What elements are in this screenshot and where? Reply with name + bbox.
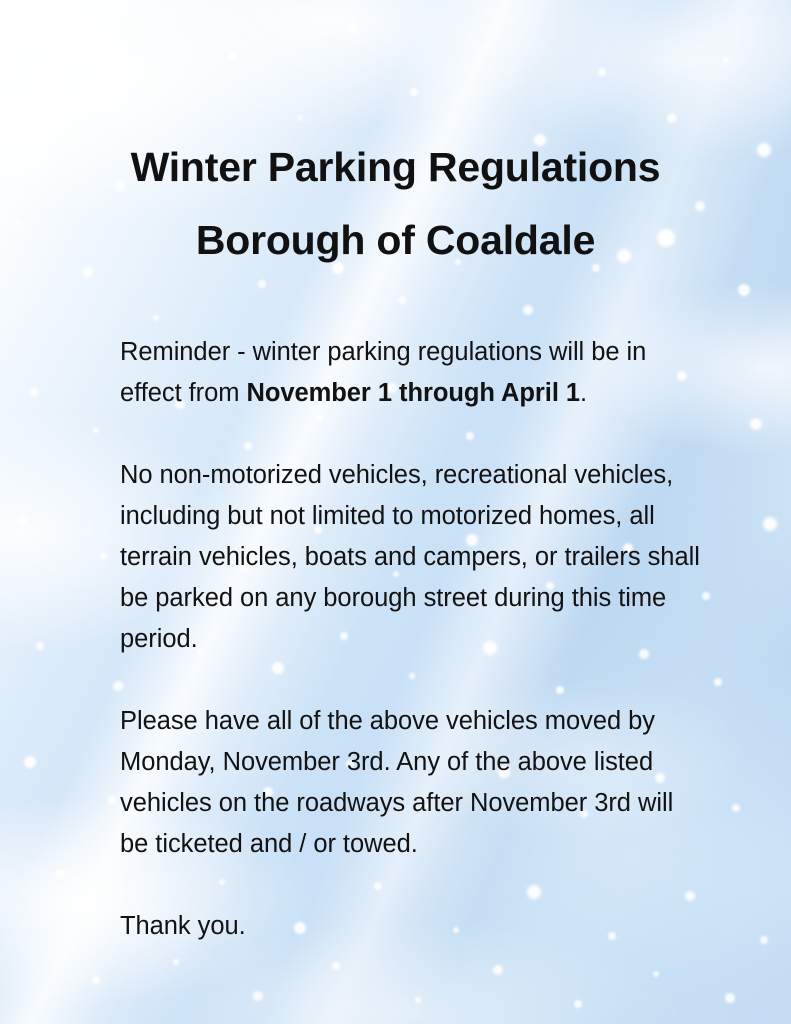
heading-line-title: Winter Parking Regulations <box>0 131 791 204</box>
paragraph-deadline: Please have all of the above vehicles mo… <box>120 701 705 865</box>
heading-line-municipality: Borough of Coaldale <box>0 204 791 277</box>
emphasis-text: November 1 through April 1 <box>246 379 580 407</box>
body-text: Thank you. <box>120 912 246 940</box>
flyer-body: Reminder - winter parking regulations wi… <box>120 332 705 947</box>
flyer-page: Winter Parking Regulations Borough of Co… <box>0 0 791 1024</box>
paragraph-closing: Thank you. <box>120 906 705 947</box>
paragraph-reminder: Reminder - winter parking regulations wi… <box>120 332 705 414</box>
body-text: . <box>580 379 587 407</box>
flyer-heading: Winter Parking Regulations Borough of Co… <box>0 131 791 277</box>
paragraph-prohibition: No non-motorized vehicles, recreational … <box>120 455 705 660</box>
flyer-content: Winter Parking Regulations Borough of Co… <box>0 0 791 1024</box>
body-text: Please have all of the above vehicles mo… <box>120 707 673 858</box>
body-text: No non-motorized vehicles, recreational … <box>120 461 700 653</box>
